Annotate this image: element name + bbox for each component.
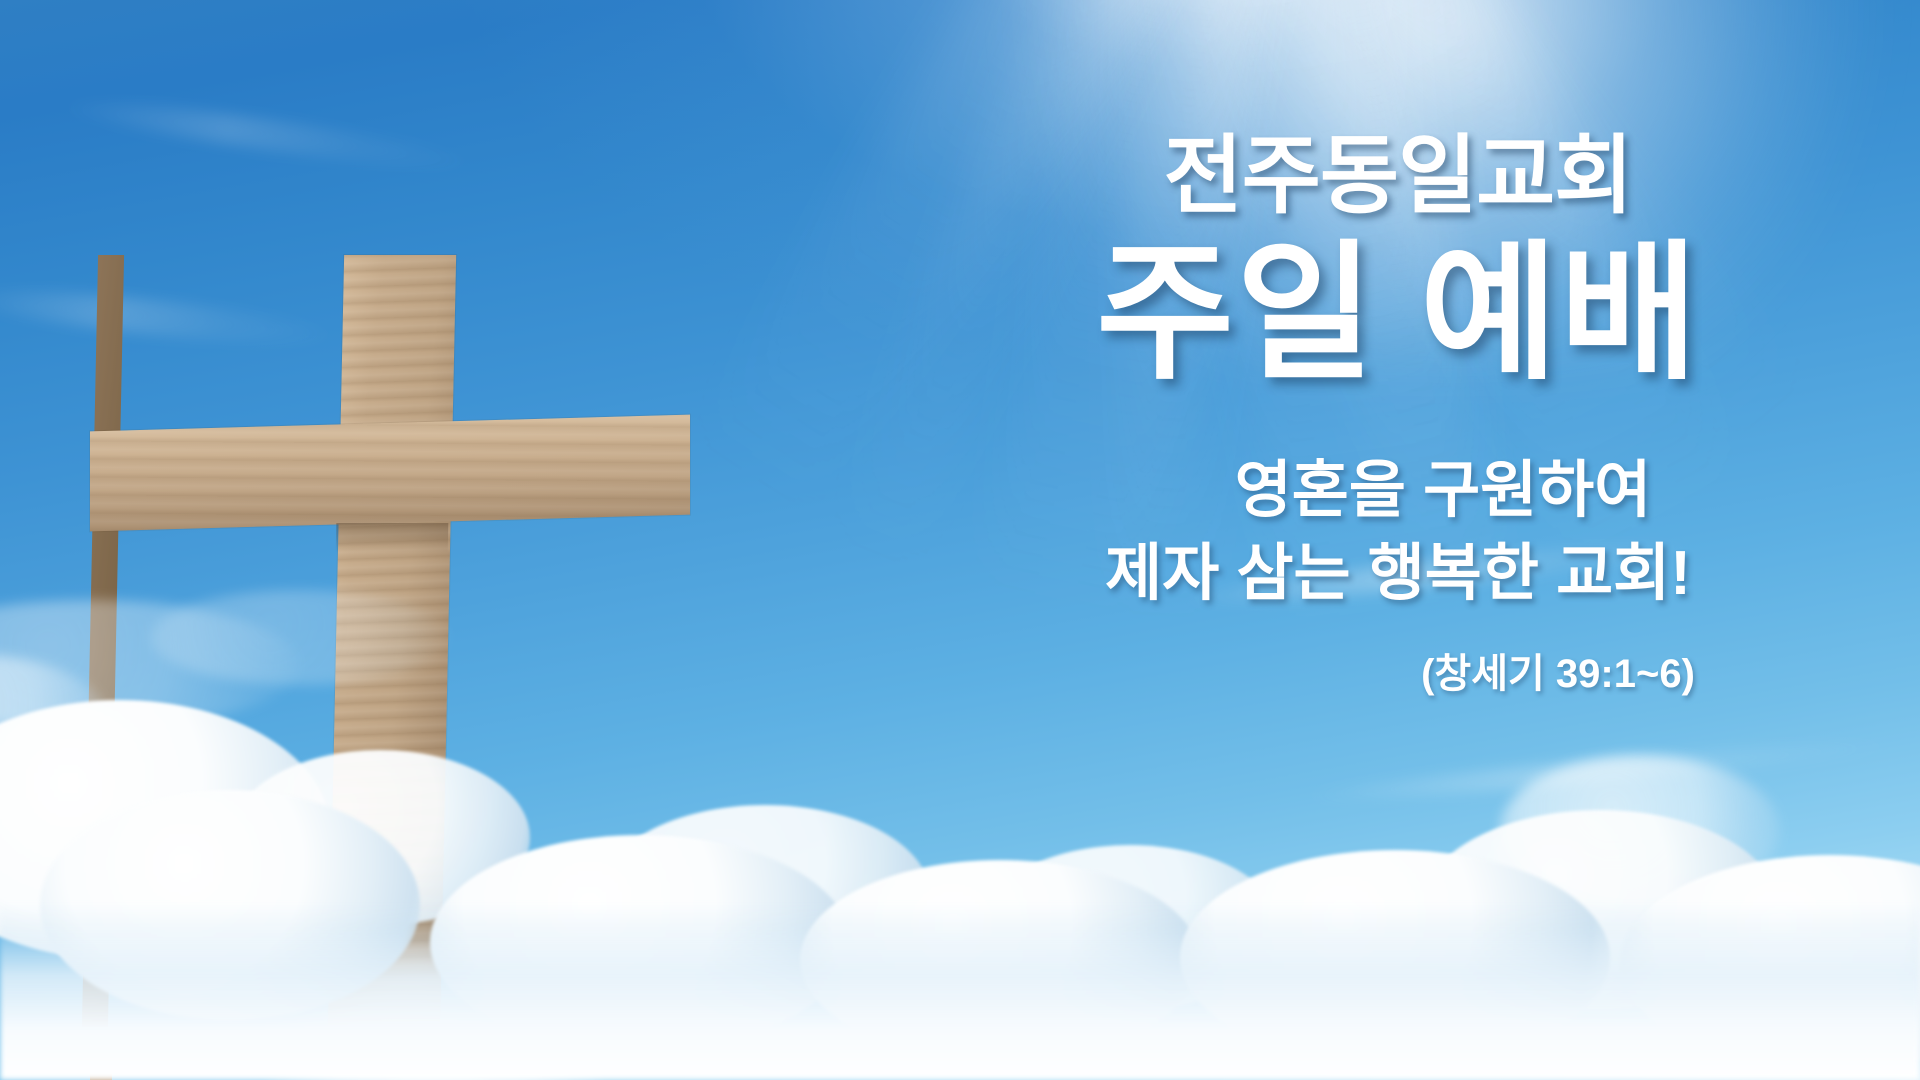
- church-slogan: 영혼을 구원하여 제자 삼는 행복한 교회!: [948, 449, 1848, 615]
- service-title: 주일 예배: [948, 229, 1848, 397]
- church-name: 전주동일교회: [948, 130, 1848, 223]
- cross-beam-end-cap: [90, 1049, 112, 1080]
- cross-vertical-beam: [328, 255, 456, 1035]
- slogan-line-1: 영혼을 구원하여: [948, 449, 1848, 532]
- cross-horizontal-beam: [90, 415, 690, 532]
- cross-base-mist: [270, 945, 600, 1080]
- slide-text-block: 전주동일교회 주일 예배 영혼을 구원하여 제자 삼는 행복한 교회! (창세기…: [948, 130, 1848, 699]
- wooden-cross: [90, 255, 690, 1035]
- cross-joint-shadow: [336, 523, 449, 553]
- worship-slide: 전주동일교회 주일 예배 영혼을 구원하여 제자 삼는 행복한 교회! (창세기…: [0, 0, 1920, 1080]
- slogan-line-2: 제자 삼는 행복한 교회!: [948, 532, 1848, 615]
- scripture-reference: (창세기 39:1~6): [948, 641, 1848, 699]
